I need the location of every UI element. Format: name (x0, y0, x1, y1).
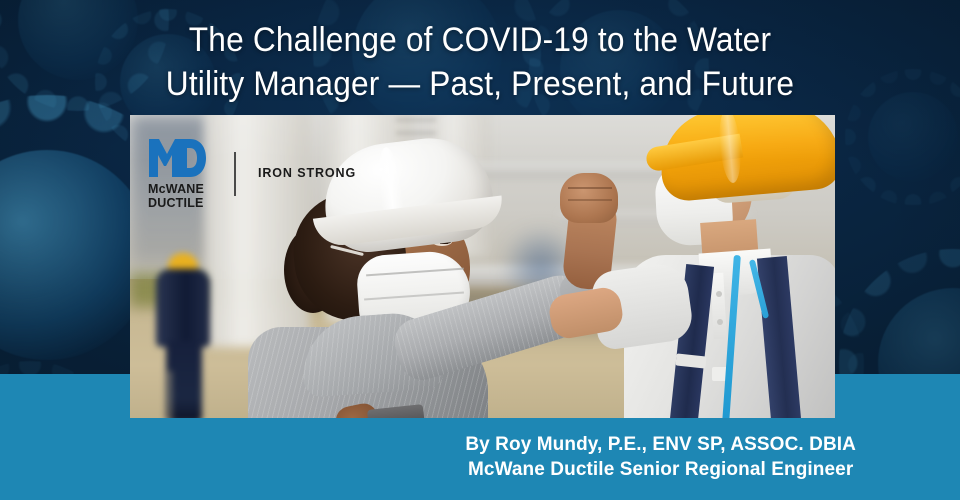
logo-company-name: McWANE DUCTILE (148, 183, 204, 210)
logo-left-block: McWANE DUCTILE (148, 138, 206, 210)
walker-torso (156, 269, 210, 347)
hard-hat-yellow-icon (168, 253, 198, 270)
shirt-button (717, 319, 723, 325)
logo-divider (234, 152, 236, 196)
author-credit: By Roy Mundy, P.E., ENV SP, ASSOC. DBIA … (465, 432, 856, 482)
mcwane-ductile-logo[interactable]: McWANE DUCTILE IRON STRONG (148, 138, 356, 210)
logo-tagline: IRON STRONG (258, 166, 356, 180)
walker-leg-gap (168, 371, 172, 418)
covid-water-utility-banner: The Challenge of COVID-19 to the Water U… (0, 0, 960, 500)
fist-knuckle-line (568, 199, 612, 201)
md-monogram-icon (148, 138, 206, 178)
shirt-button (716, 291, 722, 297)
banner-title: The Challenge of COVID-19 to the Water U… (34, 18, 927, 106)
fist-knuckle-line (568, 187, 612, 189)
woman-fist (560, 173, 618, 223)
photo-background-walker (152, 253, 222, 418)
